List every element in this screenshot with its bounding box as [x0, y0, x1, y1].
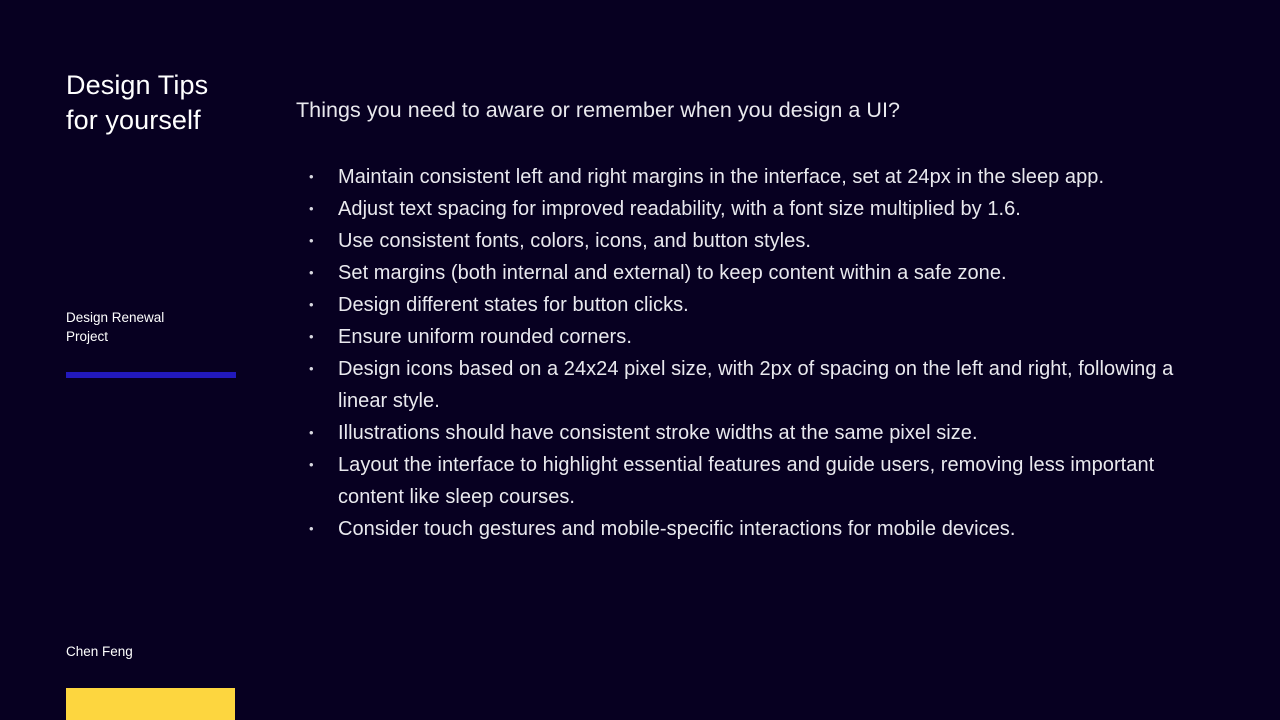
accent-rule-divider: [66, 372, 236, 378]
project-name: Design Renewal Project: [66, 308, 246, 346]
list-item: Design icons based on a 24x24 pixel size…: [304, 353, 1174, 417]
presentation-slide: Design Tips for yourself Design Renewal …: [0, 0, 1280, 720]
content-heading: Things you need to aware or remember whe…: [296, 96, 1176, 124]
list-item: Illustrations should have consistent str…: [304, 417, 1174, 449]
list-item: Layout the interface to highlight essent…: [304, 449, 1174, 513]
list-item: Use consistent fonts, colors, icons, and…: [304, 225, 1174, 257]
slide-content: Things you need to aware or remember whe…: [296, 0, 1176, 720]
list-item: Adjust text spacing for improved readabi…: [304, 193, 1174, 225]
accent-color-block: [66, 688, 235, 720]
list-item: Maintain consistent left and right margi…: [304, 161, 1174, 193]
tips-list: Maintain consistent left and right margi…: [304, 161, 1174, 545]
list-item: Design different states for button click…: [304, 289, 1174, 321]
author-name: Chen Feng: [66, 642, 133, 661]
deck-title: Design Tips for yourself: [66, 68, 286, 138]
list-item: Consider touch gestures and mobile-speci…: [304, 513, 1174, 545]
list-item: Set margins (both internal and external)…: [304, 257, 1174, 289]
slide-sidebar: Design Tips for yourself Design Renewal …: [66, 0, 276, 720]
list-item: Ensure uniform rounded corners.: [304, 321, 1174, 353]
